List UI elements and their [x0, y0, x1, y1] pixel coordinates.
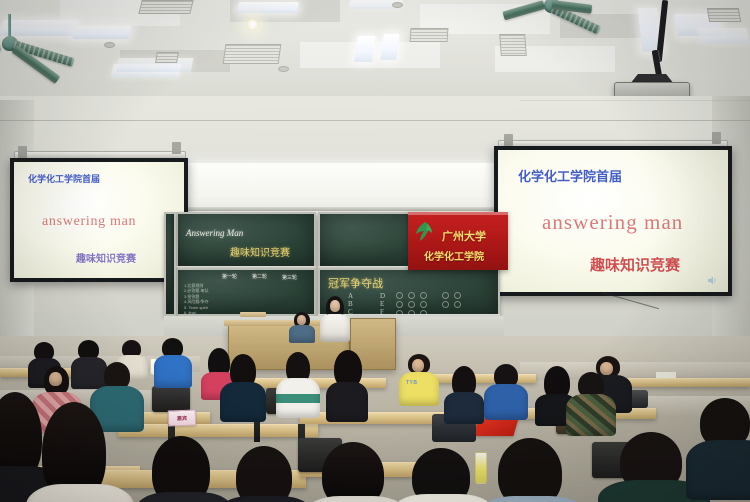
smoke-detector-icon	[104, 42, 115, 48]
whiteboard-rail	[166, 207, 518, 211]
chair-back	[152, 386, 190, 412]
screen-bracket	[18, 146, 27, 158]
ceiling-air-vent	[410, 28, 449, 42]
blackboard-letter-d: D	[380, 292, 385, 300]
ceiling-air-vent	[499, 34, 527, 56]
ceiling-light-panel	[0, 20, 78, 36]
phoenix-logo-icon	[414, 221, 436, 245]
paper-sheet	[656, 372, 676, 378]
event-banner: 广州大学 化学化工学院	[408, 212, 508, 270]
right-screen-surface: 化学化工学院首届 answering man 趣味知识竞赛	[498, 150, 728, 292]
blackboard-center-lower[interactable]: 第一轮 第二轮 第三轮 1.比赛规则 2.必答题-每队 3.抢答题 4.风险题/…	[176, 268, 316, 316]
right-slide-subtitle-cn: 趣味知识竞赛	[590, 254, 680, 275]
shirt-print: TYB	[406, 380, 418, 386]
left-screen-surface: 化学化工学院首届 answering man 趣味知识竞赛	[14, 162, 184, 278]
guest-name-card: 嘉宾	[168, 410, 197, 427]
desk-row	[118, 424, 318, 437]
blackboard-center-upper[interactable]: Answering Man 趣味知识竞赛	[176, 212, 316, 268]
left-projection-screen[interactable]: 化学化工学院首届 answering man 趣味知识竞赛	[10, 158, 188, 282]
banner-line-2: 化学化工学院	[424, 248, 484, 263]
blackboard-right[interactable]: 冠军争夺战 A B C D E F	[318, 268, 500, 316]
ceiling-air-vent	[138, 0, 193, 14]
smoke-detector-icon	[278, 66, 289, 72]
blackboard-round-1: 第一轮	[222, 273, 237, 280]
ceiling-downlight	[246, 18, 259, 31]
ceiling-air-vent	[707, 8, 741, 22]
screen-bracket	[712, 132, 721, 144]
right-slide-title-cn: 化学化工学院首届	[518, 166, 622, 185]
blackboard-chalk-chinese: 趣味知识竞赛	[230, 244, 290, 259]
blackboard-round-2: 第二轮	[252, 273, 267, 280]
wall-seam	[520, 100, 750, 101]
blackboard-right-chalk-title: 冠军争夺战	[328, 275, 383, 291]
smoke-detector-icon	[392, 2, 403, 8]
blackboard-letter-b: B	[348, 300, 353, 308]
lectern-shelf	[240, 312, 266, 317]
left-slide-title-en: answering man	[42, 214, 136, 230]
banner-line-1: 广州大学	[442, 228, 486, 244]
left-slide-subtitle-cn: 趣味知识竞赛	[76, 250, 136, 265]
left-slide-title-cn: 化学化工学院首届	[28, 172, 100, 185]
ceiling-light-panel	[72, 26, 131, 39]
screen-bracket	[172, 142, 181, 154]
speaker-icon	[708, 276, 718, 285]
blackboard-chalk-english: Answering Man	[186, 228, 243, 238]
ceiling-light-panel	[237, 2, 299, 13]
screen-bracket	[504, 134, 513, 146]
blackboard-round-3: 第三轮	[282, 274, 297, 281]
blackboard-left-edge	[164, 212, 176, 316]
blackboard-notes: 1.比赛规则 2.必答题-每队 3.抢答题 4.风险题/争夺 5. Team s…	[184, 283, 209, 315]
ceiling-air-vent	[223, 44, 282, 64]
right-slide-title-en: answering man	[542, 210, 683, 235]
blackboard-letter-a: A	[348, 292, 353, 300]
ceiling-air-vent	[155, 52, 179, 63]
ceiling-light-panel	[354, 36, 376, 62]
wall-seam	[0, 120, 750, 121]
blackboard-letter-e: E	[380, 300, 384, 308]
water-bottle	[475, 452, 487, 484]
right-projection-screen[interactable]: 化学化工学院首届 answering man 趣味知识竞赛	[494, 146, 732, 296]
lecture-hall-photo: 化学化工学院首届 answering man 趣味知识竞赛 化学化工学院首届 a…	[0, 0, 750, 502]
upper-whiteboard	[166, 163, 518, 211]
ceiling-light-panel	[698, 28, 749, 44]
